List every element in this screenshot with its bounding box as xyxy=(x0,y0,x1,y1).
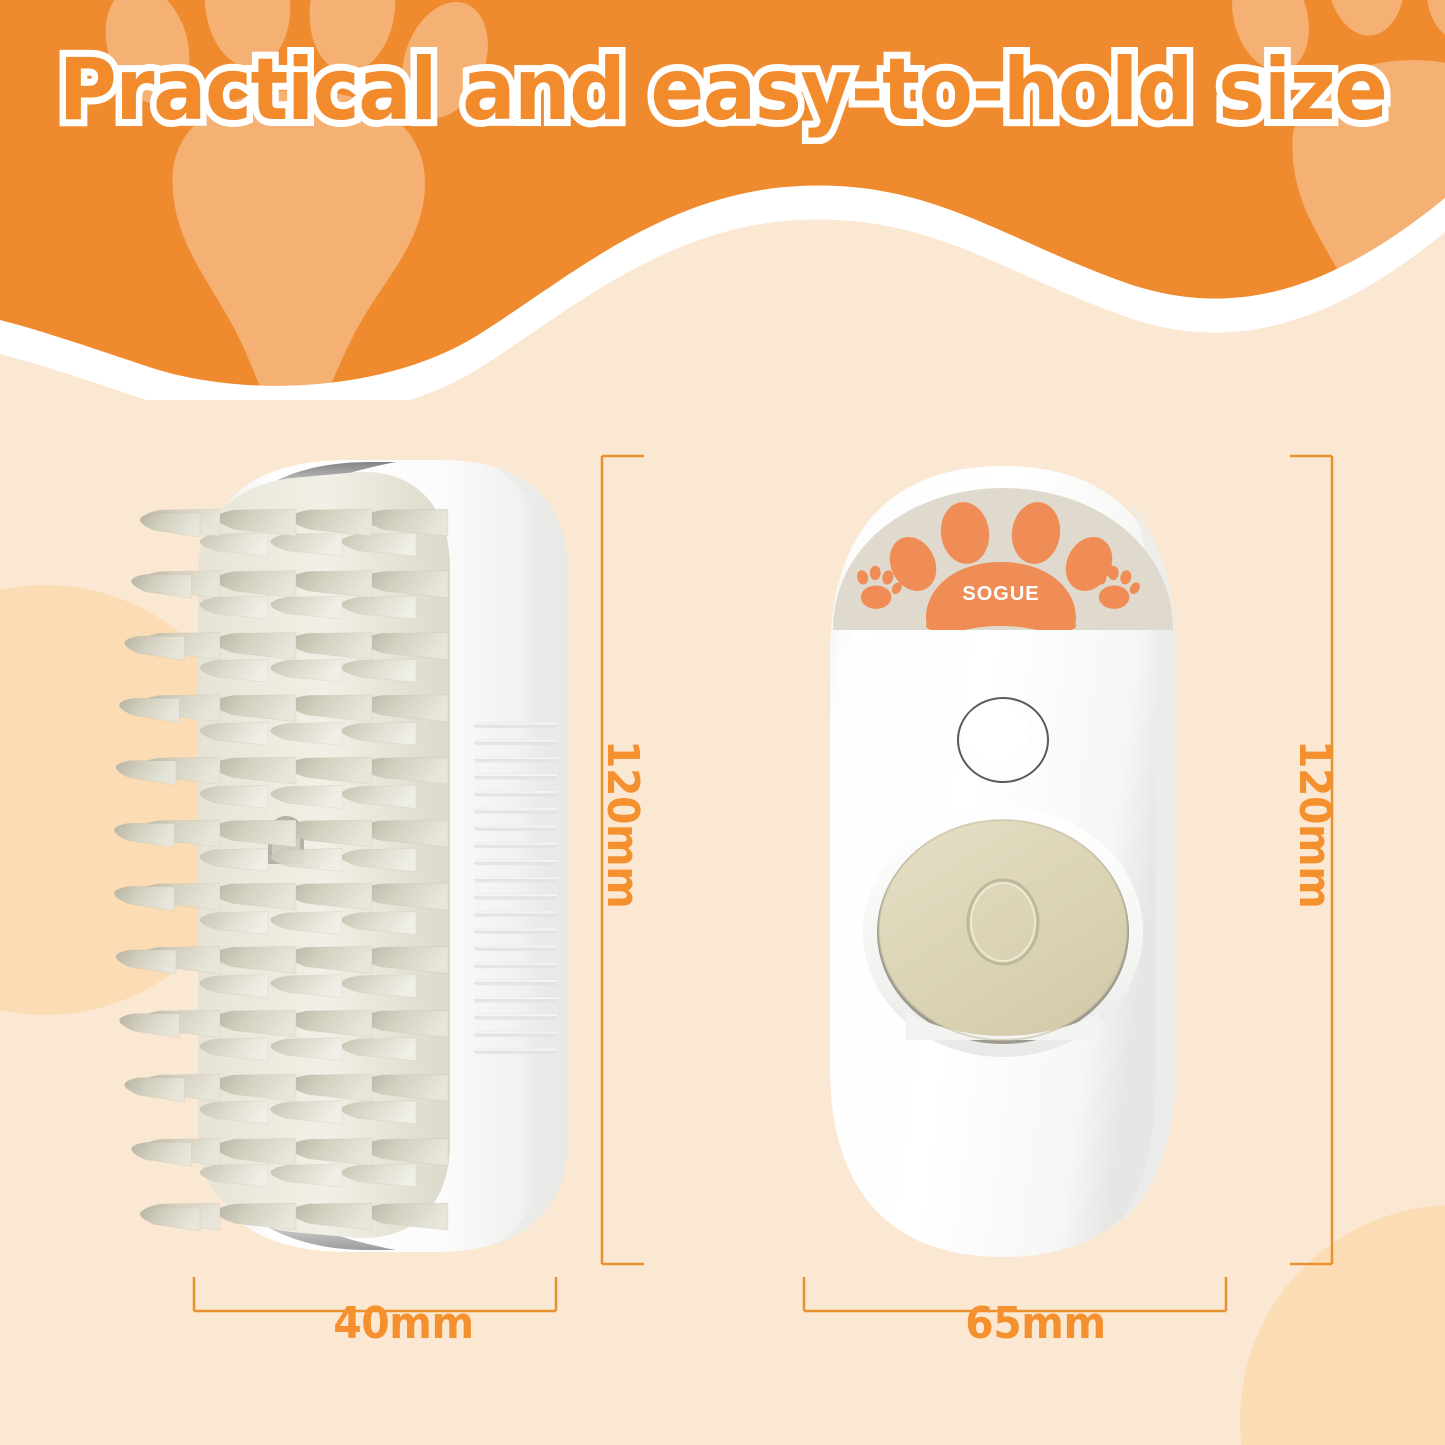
product-image-brush xyxy=(96,440,616,1280)
header-banner: Practical and easy-to-hold size xyxy=(0,0,1445,400)
dimension-label-brush-height: 120mm xyxy=(597,740,648,908)
brand-name: SOGUE xyxy=(962,583,1039,605)
header-shapes xyxy=(0,0,1445,400)
product-image-device: SOGUE xyxy=(800,440,1270,1280)
infographic-canvas: Practical and easy-to-hold size xyxy=(0,0,1445,1445)
water-tank-cap[interactable] xyxy=(863,807,1143,1057)
power-button[interactable] xyxy=(958,698,1048,782)
dimension-label-device-height: 120mm xyxy=(1289,740,1340,908)
device-illustration: SOGUE xyxy=(800,440,1270,1280)
background-accent-circle-right xyxy=(1240,1205,1445,1445)
dimension-label-brush-depth: 40mm xyxy=(333,1298,473,1349)
dimension-label-device-width: 65mm xyxy=(965,1298,1105,1349)
brush-illustration xyxy=(96,440,616,1280)
